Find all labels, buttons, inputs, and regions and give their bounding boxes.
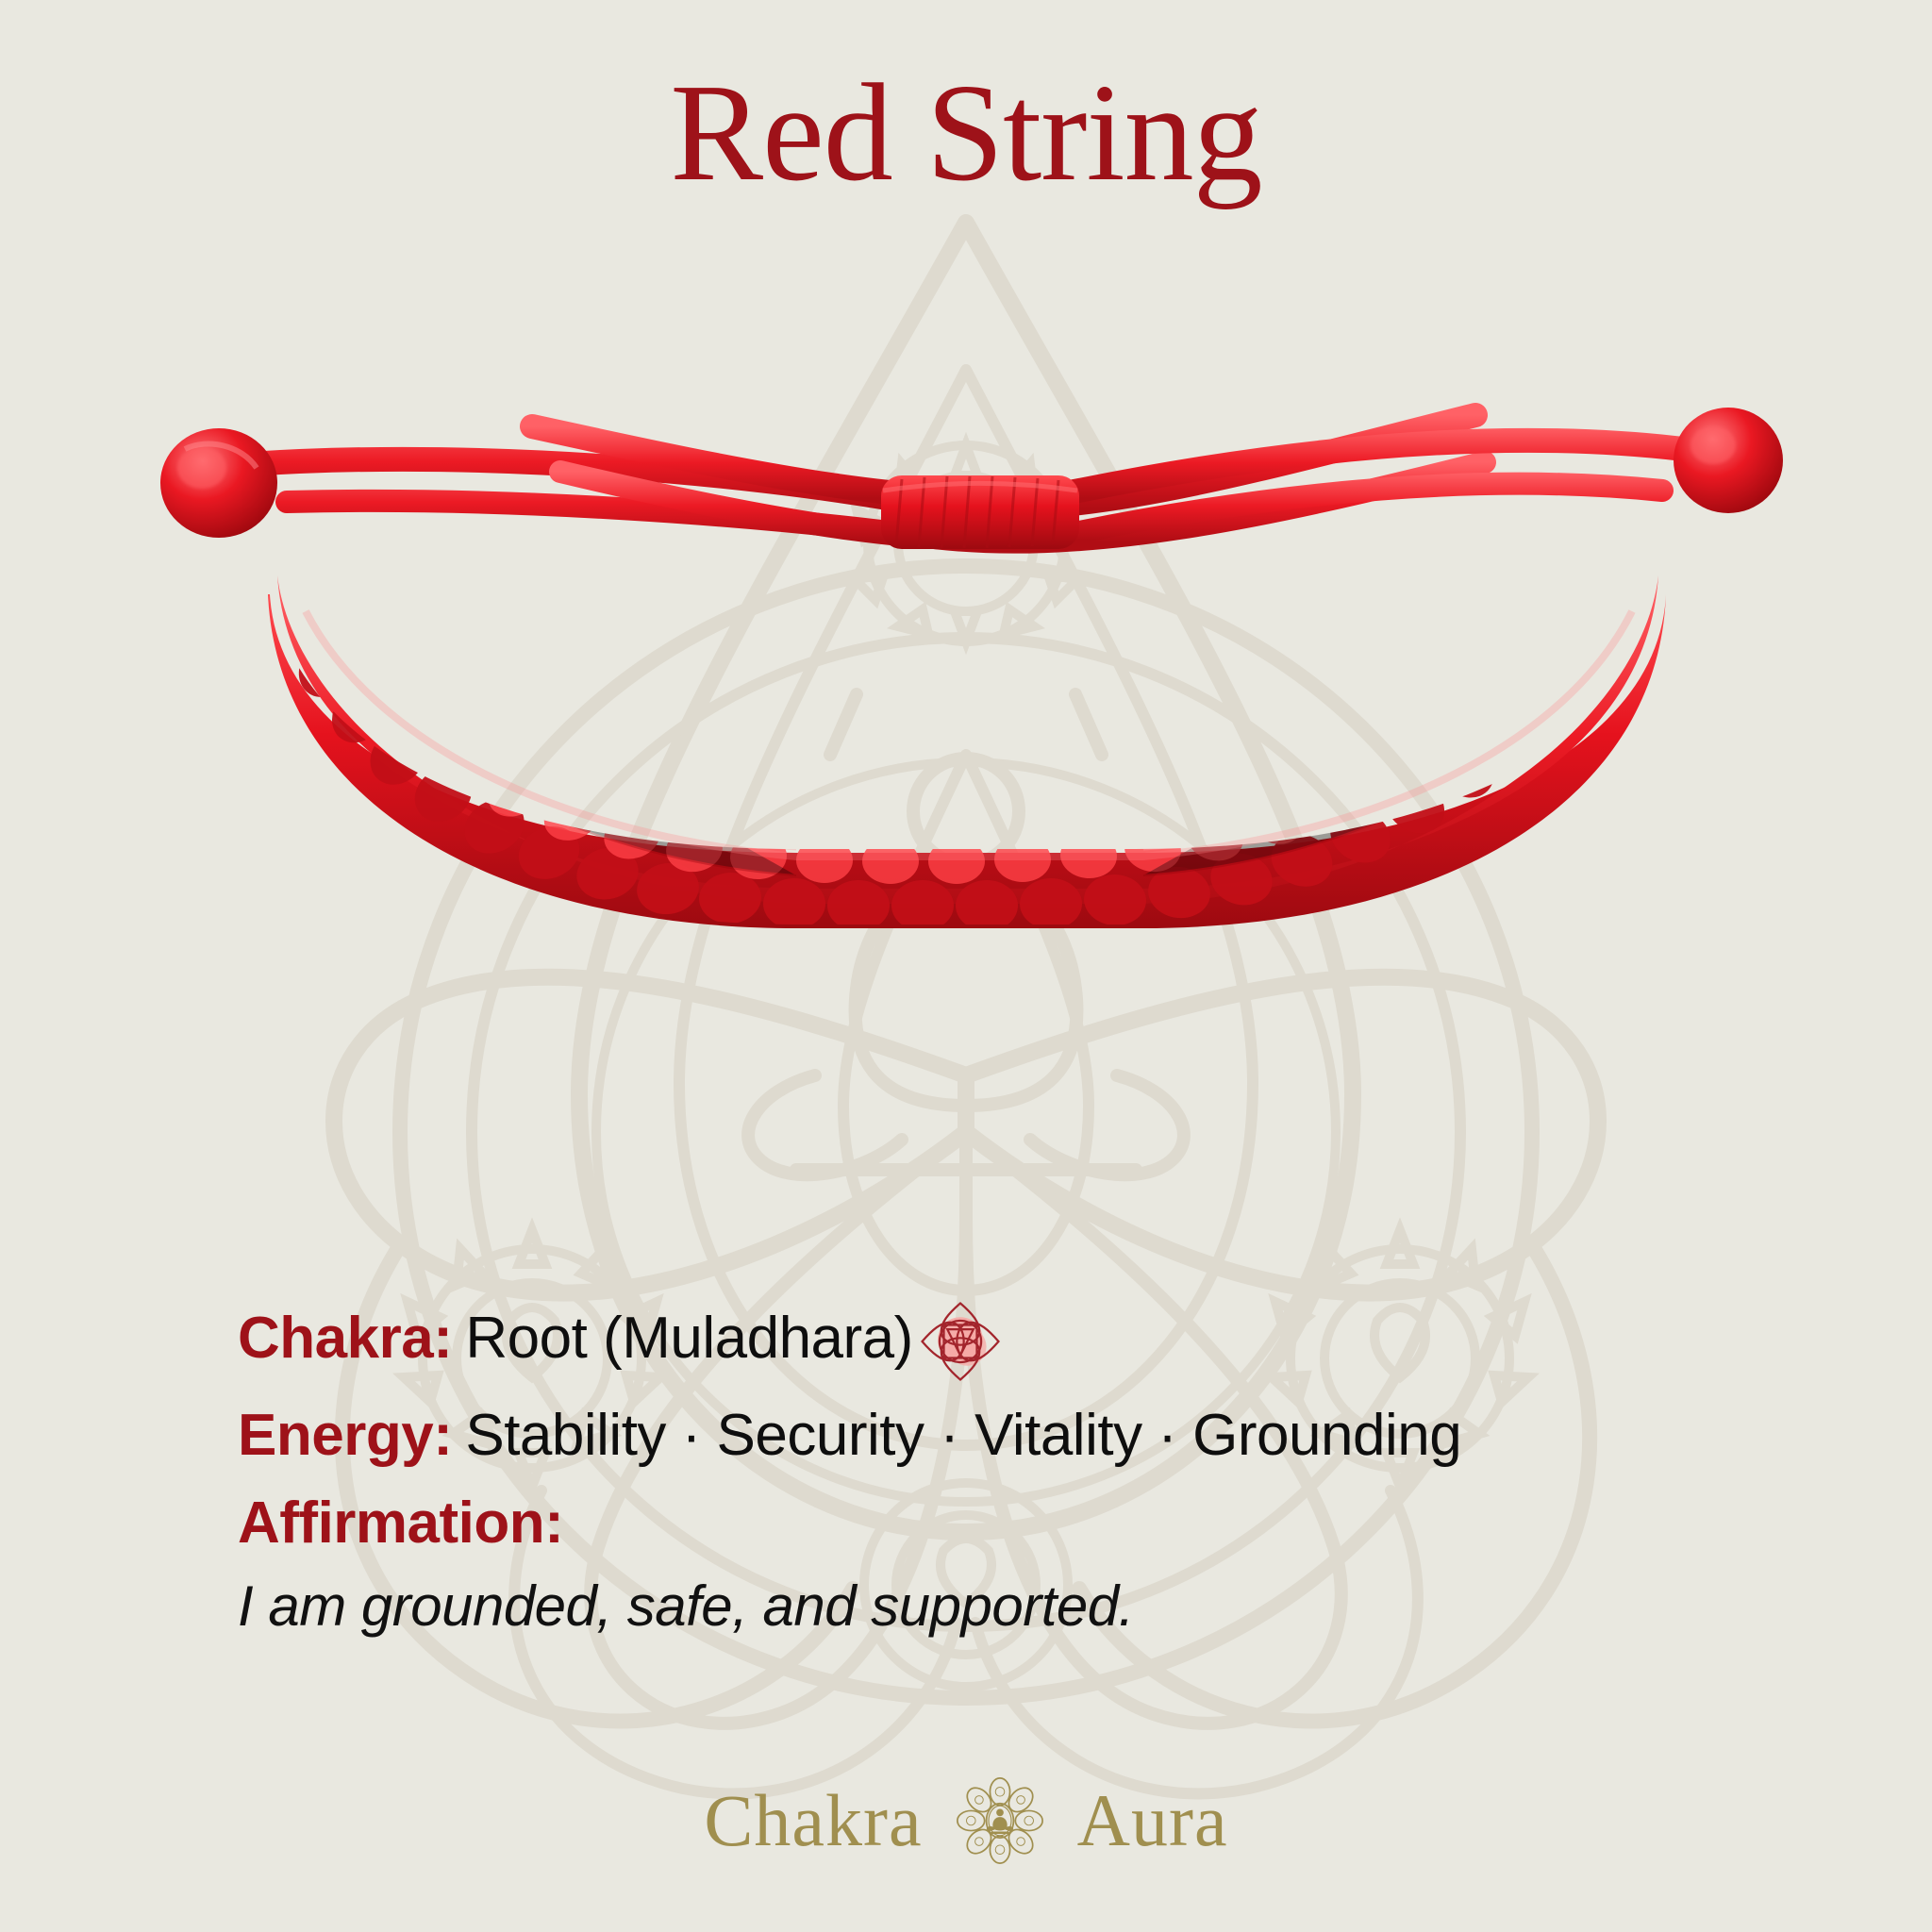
chakra-label: Chakra: [238, 1305, 452, 1372]
slide-knot [881, 475, 1079, 549]
affirmation-label: Affirmation: [238, 1490, 563, 1557]
end-bead-left [160, 428, 277, 538]
muladhara-chakra-icon [917, 1298, 1004, 1385]
energy-row: Energy: Stability · Security · Vitality … [238, 1402, 1747, 1469]
page-title: Red String [0, 57, 1932, 210]
braided-band [268, 574, 1666, 931]
chakra-row: Chakra: Root (Muladhara) [238, 1294, 1747, 1381]
energy-label: Energy: [238, 1402, 452, 1469]
lotus-meditation-icon [955, 1775, 1045, 1866]
brand-word-right: Aura [1077, 1778, 1228, 1863]
product-card: Red String [0, 0, 1932, 1932]
info-block: Chakra: Root (Muladhara) [238, 1294, 1747, 1639]
affirmation-row: Affirmation: [238, 1490, 1747, 1557]
energy-value: Stability · Security · Vitality · Ground… [465, 1402, 1461, 1469]
product-image [136, 358, 1796, 972]
brand-word-left: Chakra [704, 1778, 922, 1863]
brand-footer: Chakra [0, 1775, 1932, 1866]
affirmation-text: I am grounded, safe, and supported. [238, 1574, 1747, 1639]
end-bead-right [1674, 408, 1783, 513]
chakra-value: Root (Muladhara) [465, 1305, 912, 1372]
